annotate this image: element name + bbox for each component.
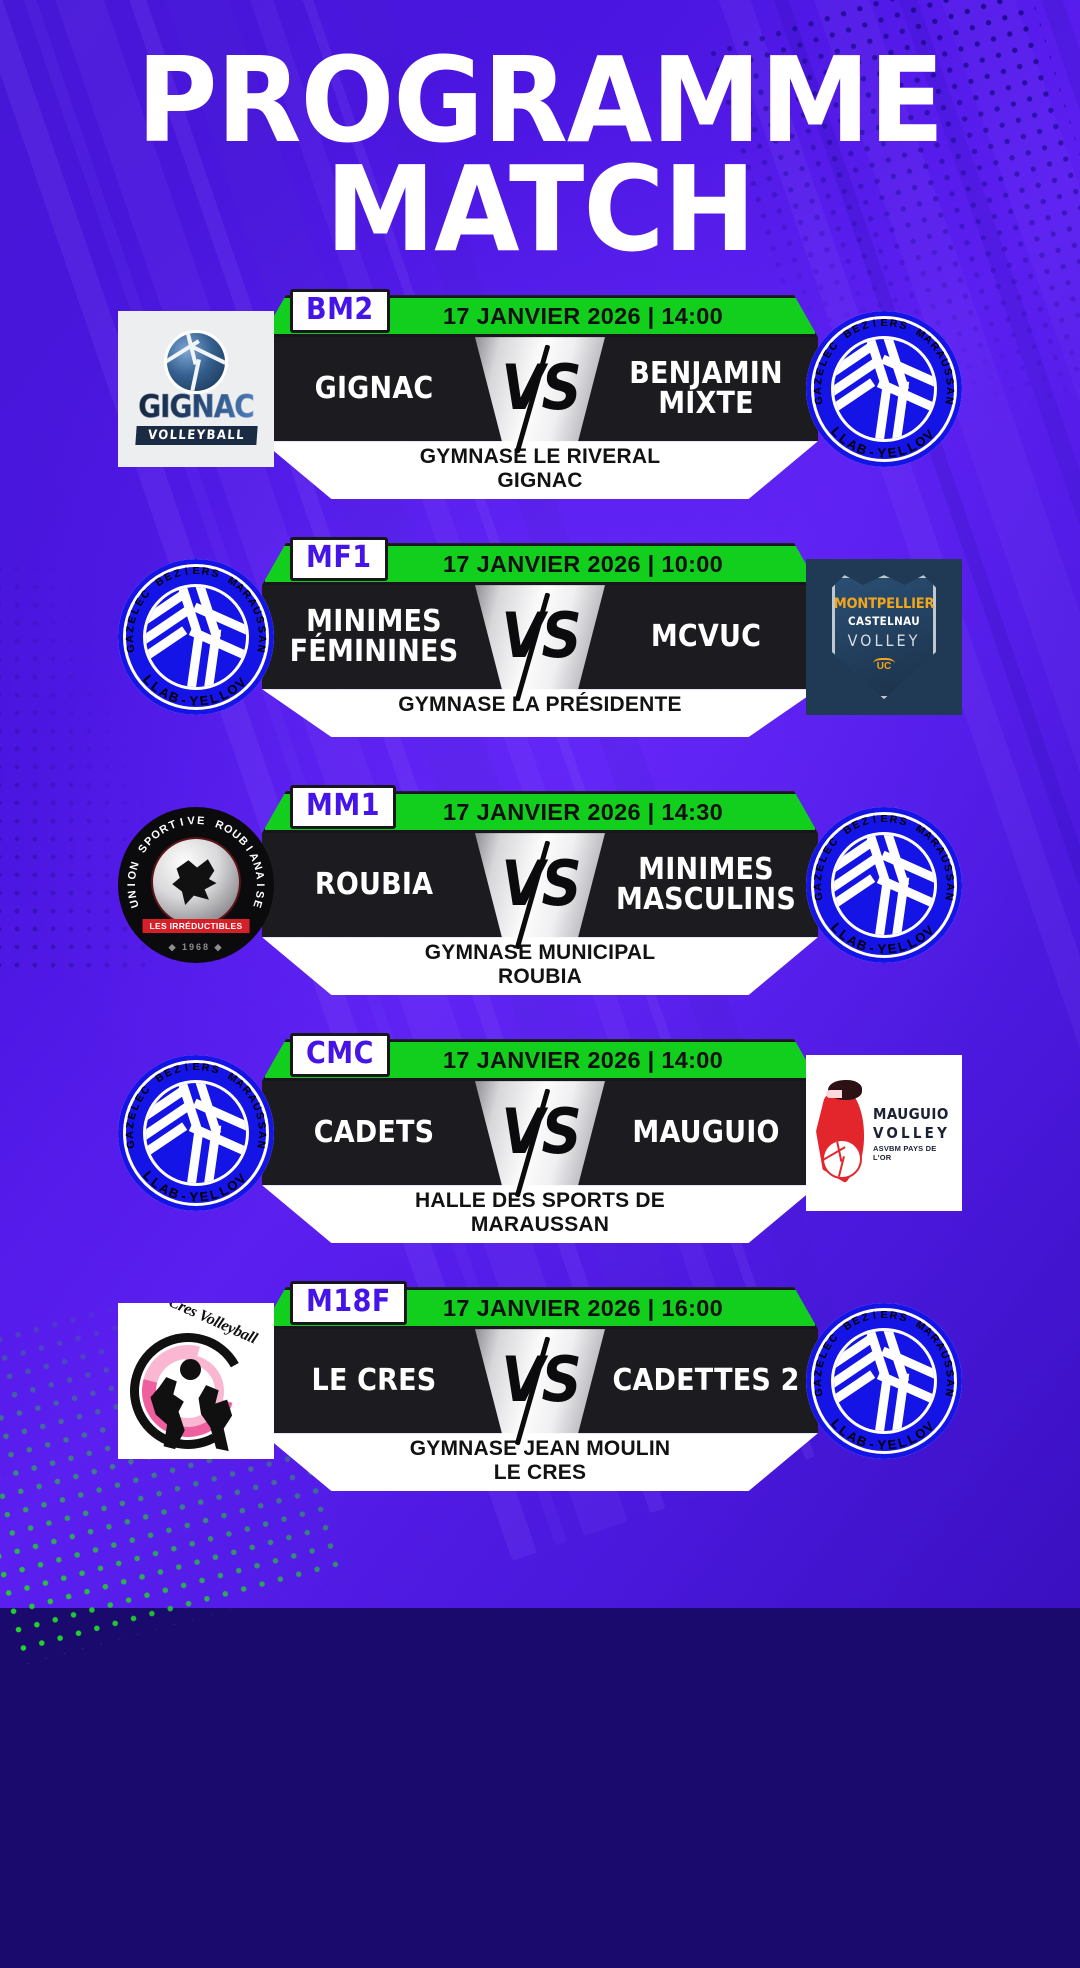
home-team-logo: GIGNACVOLLEYBALL	[118, 311, 274, 467]
mauguio-line-3: ASVBM PAYS DE L'OR	[873, 1144, 956, 1162]
gazelec-crest-logo: GAZELEC BEZIERS MARAUSSANVOLLEY-BALL	[806, 807, 962, 963]
match-row: GAZELEC BEZIERS MARAUSSANVOLLEY-BALLMAUG…	[0, 1031, 1080, 1279]
mauguio-volley-logo: MAUGUIOVOLLEYASVBM PAYS DE L'OR	[806, 1055, 962, 1211]
volleyball-icon	[146, 1083, 246, 1183]
match-banner: 17 JANVIER 2026 | 14:00CMC	[262, 1039, 818, 1081]
venue-line: GIGNAC	[322, 469, 758, 493]
gignac-logo-subtitle: VOLLEYBALL	[135, 426, 257, 445]
category-badge: MF1	[290, 537, 388, 581]
title-line-2: MATCH	[0, 155, 1080, 264]
home-team-name: MINIMES FÉMININES	[268, 585, 480, 689]
away-team-name: CADETTES 2	[600, 1329, 812, 1433]
match-venue: GYMNASE LA PRÉSIDENTE	[262, 689, 818, 737]
home-team-logo: GAZELEC BEZIERS MARAUSSANVOLLEY-BALL	[118, 1055, 274, 1211]
home-team-logo: Le Cres Volleyball	[118, 1303, 274, 1459]
match-card: 17 JANVIER 2026 | 10:00MF1MINIMES FÉMINI…	[262, 543, 818, 737]
category-badge: M18F	[290, 1281, 407, 1325]
viking-head-icon	[169, 857, 223, 909]
venue-line: LE CRES	[322, 1461, 758, 1485]
mauguio-line-1: MAUGUIO	[873, 1105, 949, 1123]
away-team-logo: GAZELEC BEZIERS MARAUSSANVOLLEY-BALL	[806, 1303, 962, 1459]
venue-line: ROUBIA	[322, 965, 758, 989]
gignac-logo-name: GIGNAC	[138, 389, 254, 425]
volleyball-icon	[834, 339, 934, 439]
category-badge: BM2	[290, 289, 390, 333]
roubia-year: ◆ 1968 ◆	[169, 942, 224, 953]
match-body: CADETSVSMAUGUIO	[262, 1081, 818, 1185]
category-badge: MM1	[290, 785, 396, 829]
match-venue: GYMNASE JEAN MOULINLE CRES	[262, 1433, 818, 1491]
away-team-name: MINIMES MASCULINS	[600, 833, 812, 937]
home-team-name: ROUBIA	[268, 833, 480, 937]
match-row: GIGNACVOLLEYBALLGAZELEC BEZIERS MARAUSSA…	[0, 287, 1080, 535]
venue-line: HALLE DES SPORTS DE	[322, 1189, 758, 1213]
home-team-name: LE CRES	[268, 1329, 480, 1433]
venue-text: HALLE DES SPORTS DEMARAUSSAN	[262, 1185, 818, 1243]
roubia-logo: UNION SPORTIVE ROUBIANAISELES IRRÉDUCTIB…	[118, 807, 274, 963]
away-team-logo: GAZELEC BEZIERS MARAUSSANVOLLEY-BALL	[806, 311, 962, 467]
volleyball-icon	[180, 1359, 201, 1380]
match-venue: HALLE DES SPORTS DEMARAUSSAN	[262, 1185, 818, 1243]
gazelec-crest-logo: GAZELEC BEZIERS MARAUSSANVOLLEY-BALL	[806, 311, 962, 467]
volleyball-icon	[822, 1139, 862, 1179]
montpellier-castelnau-logo: MONTPELLIERCASTELNAUVOLLEYUC	[806, 559, 962, 715]
volleyball-icon	[834, 835, 934, 935]
gignac-volleyball-logo: GIGNACVOLLEYBALL	[118, 311, 274, 467]
gazelec-crest-logo: GAZELEC BEZIERS MARAUSSANVOLLEY-BALL	[118, 559, 274, 715]
gazelec-crest-logo: GAZELEC BEZIERS MARAUSSANVOLLEY-BALL	[806, 1303, 962, 1459]
gazelec-crest-logo: GAZELEC BEZIERS MARAUSSANVOLLEY-BALL	[118, 1055, 274, 1211]
mtp-line-2: CASTELNAU	[848, 614, 920, 628]
match-row: Le Cres VolleyballGAZELEC BEZIERS MARAUS…	[0, 1279, 1080, 1527]
match-banner: 17 JANVIER 2026 | 10:00MF1	[262, 543, 818, 585]
le-cres-volleyball-logo: Le Cres Volleyball	[118, 1303, 274, 1459]
home-team-logo: UNION SPORTIVE ROUBIANAISELES IRRÉDUCTIB…	[118, 807, 274, 963]
venue-text: GYMNASE LA PRÉSIDENTE	[262, 689, 818, 724]
mtp-line-4: UC	[873, 658, 895, 672]
away-team-logo: GAZELEC BEZIERS MARAUSSANVOLLEY-BALL	[806, 807, 962, 963]
flamingo-icon	[812, 1081, 868, 1185]
away-team-logo: MONTPELLIERCASTELNAUVOLLEYUC	[806, 559, 962, 715]
volleyball-icon	[834, 1331, 934, 1431]
match-list: GIGNACVOLLEYBALLGAZELEC BEZIERS MARAUSSA…	[0, 287, 1080, 1527]
venue-line: GYMNASE LA PRÉSIDENTE	[322, 693, 758, 717]
mtp-line-1: MONTPELLIER	[834, 596, 935, 612]
volleyball-icon	[167, 333, 225, 391]
match-banner: 17 JANVIER 2026 | 14:00BM2	[262, 295, 818, 337]
match-body: GIGNACVSBENJAMIN MIXTE	[262, 337, 818, 441]
match-row: GAZELEC BEZIERS MARAUSSANVOLLEY-BALLMONT…	[0, 535, 1080, 783]
match-venue: GYMNASE LE RIVERALGIGNAC	[262, 441, 818, 499]
volleyball-icon	[146, 587, 246, 687]
away-team-name: BENJAMIN MIXTE	[600, 337, 812, 441]
venue-line: MARAUSSAN	[322, 1213, 758, 1237]
venue-text: GYMNASE LE RIVERALGIGNAC	[262, 441, 818, 499]
match-card: 17 JANVIER 2026 | 16:00M18FLE CRESVSCADE…	[262, 1287, 818, 1491]
venue-line: GYMNASE LE RIVERAL	[322, 445, 758, 469]
poster-title: PROGRAMME MATCH	[0, 0, 1080, 263]
mtp-line-3: VOLLEY	[848, 631, 921, 650]
viking-emblem	[153, 839, 239, 925]
shield-icon: MONTPELLIERCASTELNAUVOLLEYUC	[832, 575, 936, 699]
match-banner: 17 JANVIER 2026 | 16:00M18F	[262, 1287, 818, 1329]
away-team-name: MCVUC	[600, 585, 812, 689]
match-body: ROUBIAVSMINIMES MASCULINS	[262, 833, 818, 937]
roubia-banner-text: LES IRRÉDUCTIBLES	[143, 919, 250, 933]
venue-text: GYMNASE MUNICIPALROUBIA	[262, 937, 818, 995]
home-team-name: GIGNAC	[268, 337, 480, 441]
match-card: 17 JANVIER 2026 | 14:30MM1ROUBIAVSMINIME…	[262, 791, 818, 995]
match-card: 17 JANVIER 2026 | 14:00BM2GIGNACVSBENJAM…	[262, 295, 818, 499]
match-card: 17 JANVIER 2026 | 14:00CMCCADETSVSMAUGUI…	[262, 1039, 818, 1243]
home-team-name: CADETS	[268, 1081, 480, 1185]
match-body: MINIMES FÉMININESVSMCVUC	[262, 585, 818, 689]
match-banner: 17 JANVIER 2026 | 14:30MM1	[262, 791, 818, 833]
match-venue: GYMNASE MUNICIPALROUBIA	[262, 937, 818, 995]
mauguio-line-2: VOLLEY	[873, 1124, 950, 1142]
venue-text: GYMNASE JEAN MOULINLE CRES	[262, 1433, 818, 1491]
category-badge: CMC	[290, 1033, 390, 1077]
match-body: LE CRESVSCADETTES 2	[262, 1329, 818, 1433]
venue-line: GYMNASE JEAN MOULIN	[322, 1437, 758, 1461]
venue-line: GYMNASE MUNICIPAL	[322, 941, 758, 965]
match-row: UNION SPORTIVE ROUBIANAISELES IRRÉDUCTIB…	[0, 783, 1080, 1031]
away-team-logo: MAUGUIOVOLLEYASVBM PAYS DE L'OR	[806, 1055, 962, 1211]
home-team-logo: GAZELEC BEZIERS MARAUSSANVOLLEY-BALL	[118, 559, 274, 715]
away-team-name: MAUGUIO	[600, 1081, 812, 1185]
